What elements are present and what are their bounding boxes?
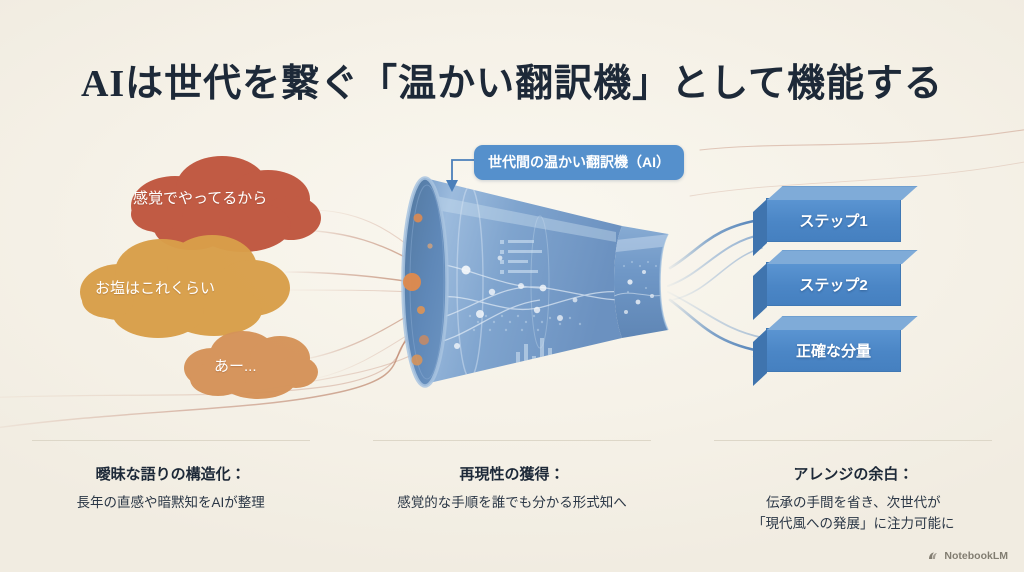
step-label: 正確な分量	[796, 340, 871, 361]
step-box-2[interactable]: ステップ2	[766, 262, 901, 306]
watermark-label: NotebookLM	[944, 550, 1008, 562]
callout-label: 世代間の温かい翻訳機（AI）	[488, 154, 670, 170]
step-label: ステップ2	[799, 274, 867, 295]
summary-column-2: 再現性の獲得： 感覚的な手順を誰でも分かる形式知へ	[341, 440, 682, 535]
column-heading: アレンジの余白：	[701, 463, 1006, 484]
slide-canvas: AIは世代を繋ぐ「温かい翻訳機」として機能する	[0, 0, 1024, 572]
summary-columns: 曖昧な語りの構造化： 長年の直感や暗黙知をAIが整理 再現性の獲得： 感覚的な手…	[0, 440, 1024, 535]
summary-column-3: アレンジの余白： 伝承の手間を省き、次世代が 「現代風への発展」に注力可能に	[683, 440, 1024, 535]
column-body-line: 「現代風への発展」に注力可能に	[701, 514, 1006, 535]
step-box-top-face	[767, 250, 918, 264]
summary-column-1: 曖昧な語りの構造化： 長年の直感や暗黙知をAIが整理	[0, 440, 341, 535]
step-box-top-face	[767, 186, 918, 200]
notebooklm-logo-icon	[927, 550, 939, 562]
column-body-line: 感覚的な手順を誰でも分かる形式知へ	[359, 493, 664, 514]
column-heading: 再現性の獲得：	[359, 463, 664, 484]
step-box-1[interactable]: ステップ1	[766, 198, 901, 242]
column-divider	[373, 440, 651, 441]
column-body-line: 長年の直感や暗黙知をAIが整理	[18, 493, 323, 514]
step-box-top-face	[767, 316, 918, 330]
callout-badge[interactable]: 世代間の温かい翻訳機（AI）	[474, 145, 684, 180]
notebooklm-watermark: NotebookLM	[927, 550, 1008, 562]
column-heading: 曖昧な語りの構造化：	[18, 463, 323, 484]
step-label: ステップ1	[799, 210, 867, 231]
column-body-line: 伝承の手間を省き、次世代が	[701, 493, 1006, 514]
column-divider	[32, 440, 310, 441]
step-box-3[interactable]: 正確な分量	[766, 328, 901, 372]
column-divider	[714, 440, 992, 441]
